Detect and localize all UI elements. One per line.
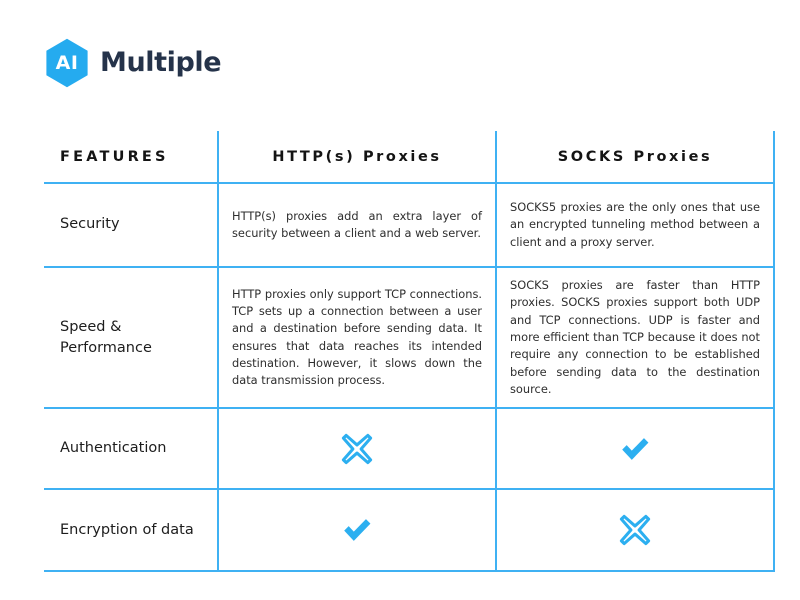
table-row: Speed & Performance HTTP proxies only su… <box>44 267 774 408</box>
column-header-features: FEATURES <box>44 131 218 183</box>
feature-label-encryption-of-data: Encryption of data <box>44 489 218 571</box>
feature-label-speed-performance: Speed & Performance <box>44 267 218 408</box>
cross-icon <box>232 418 482 479</box>
table-body: Security HTTP(s) proxies add an extra la… <box>44 183 774 571</box>
table-row: Encryption of data <box>44 489 774 571</box>
proxy-comparison-table: FEATURES HTTP(s) Proxies SOCKS Proxies S… <box>44 131 775 572</box>
check-icon <box>232 499 482 561</box>
feature-label-security: Security <box>44 183 218 267</box>
cell-authentication-http <box>218 408 496 489</box>
table-header: FEATURES HTTP(s) Proxies SOCKS Proxies <box>44 131 774 183</box>
feature-label-authentication: Authentication <box>44 408 218 489</box>
logo-hexagon-icon: AI <box>44 38 90 88</box>
column-header-http-proxies: HTTP(s) Proxies <box>218 131 496 183</box>
cell-encryption-socks <box>496 489 774 571</box>
logo-hexagon-label: AI <box>44 38 90 88</box>
cell-speed-socks: SOCKS proxies are faster than HTTP proxi… <box>496 267 774 408</box>
cell-authentication-socks <box>496 408 774 489</box>
brand-logo: AI Multiple <box>44 38 221 88</box>
cell-security-socks: SOCKS5 proxies are the only ones that us… <box>496 183 774 267</box>
cell-encryption-http <box>218 489 496 571</box>
check-icon <box>510 418 760 479</box>
table-row: Security HTTP(s) proxies add an extra la… <box>44 183 774 267</box>
cross-icon <box>510 499 760 561</box>
cell-security-http: HTTP(s) proxies add an extra layer of se… <box>218 183 496 267</box>
column-header-socks-proxies: SOCKS Proxies <box>496 131 774 183</box>
logo-wordmark: Multiple <box>100 49 221 78</box>
table-row: Authentication <box>44 408 774 489</box>
cell-speed-http: HTTP proxies only support TCP connection… <box>218 267 496 408</box>
table-header-row: FEATURES HTTP(s) Proxies SOCKS Proxies <box>44 131 774 183</box>
